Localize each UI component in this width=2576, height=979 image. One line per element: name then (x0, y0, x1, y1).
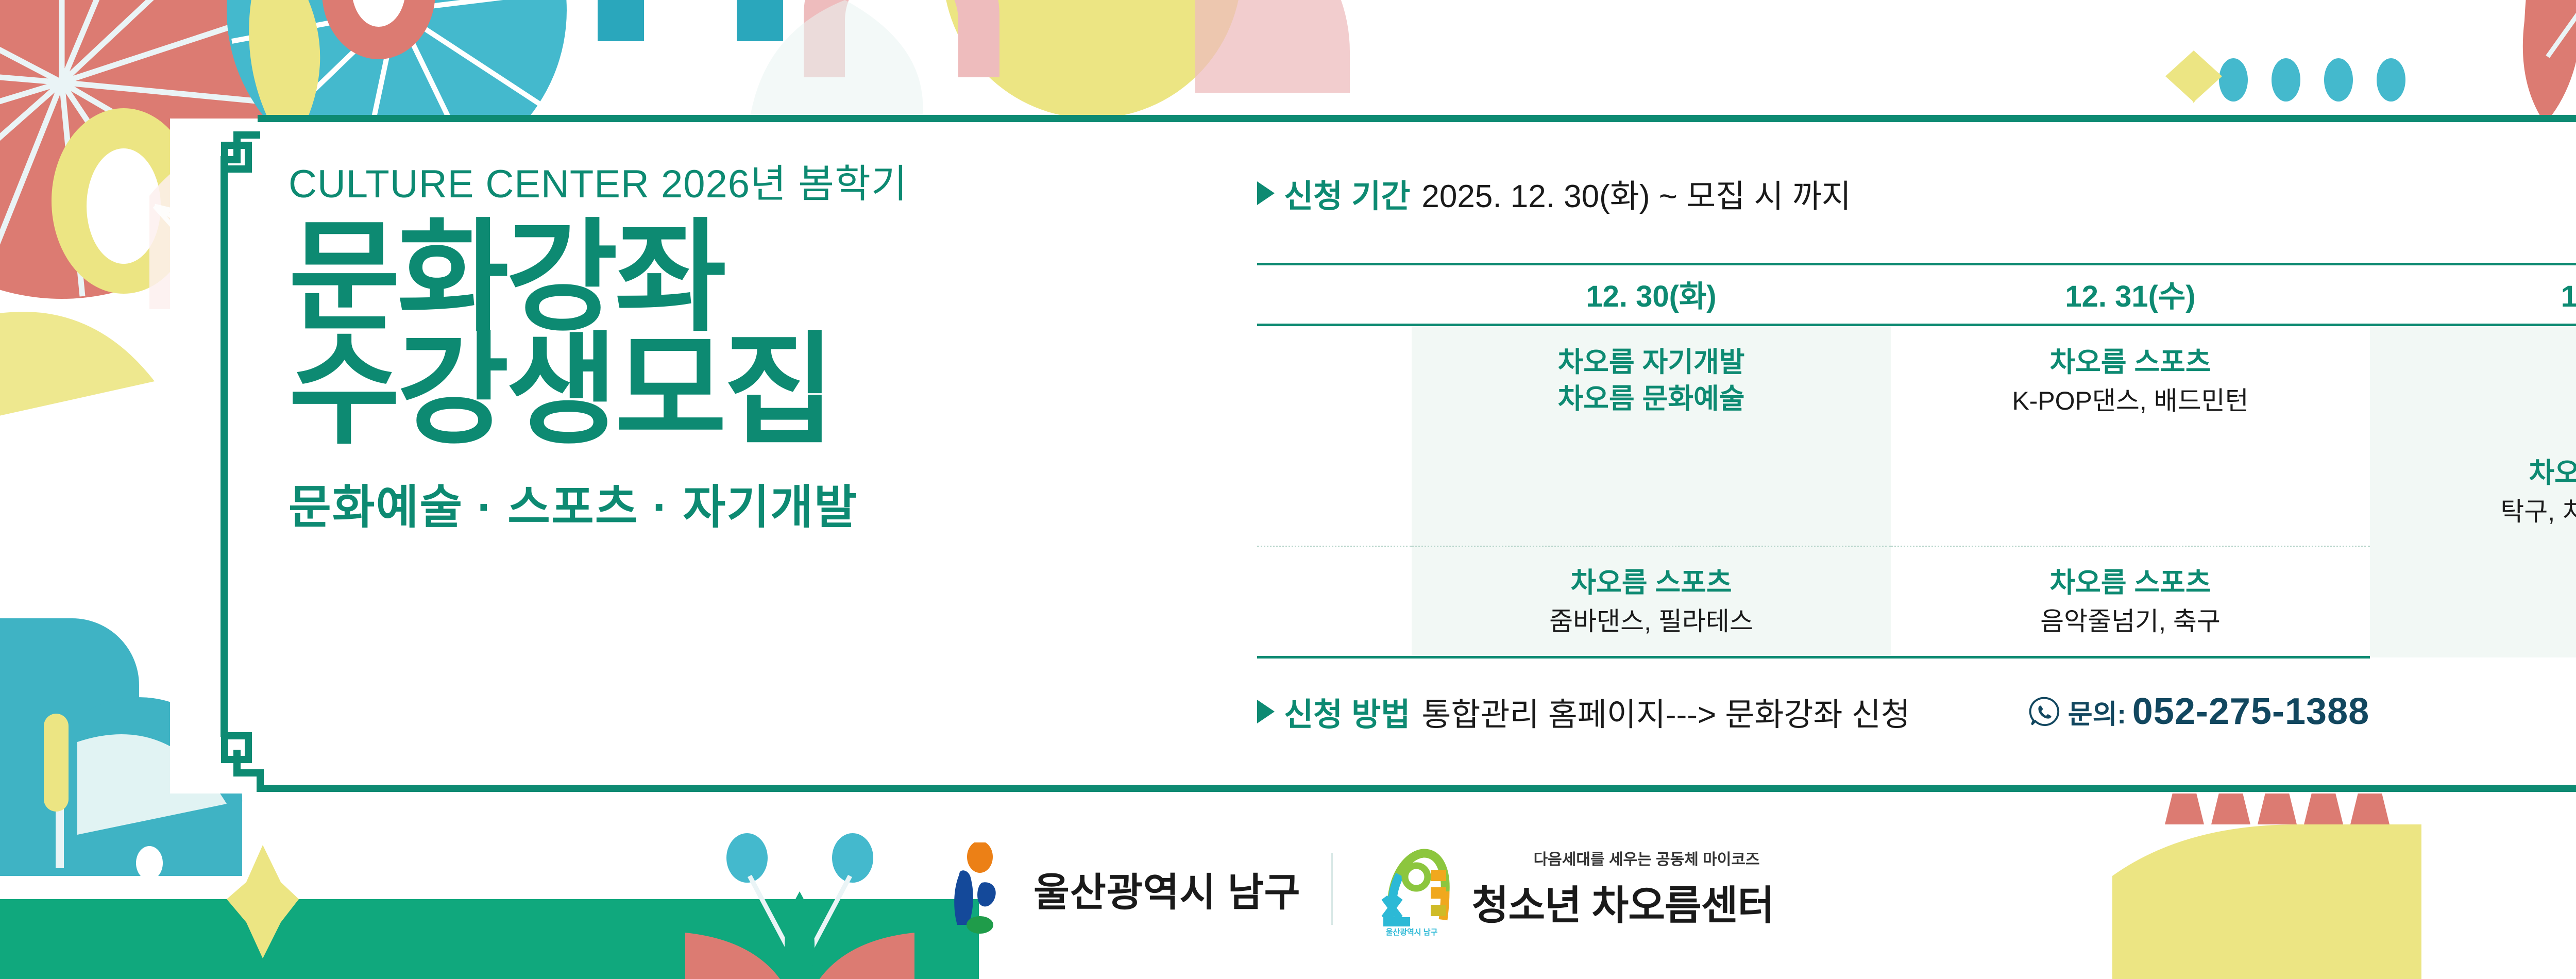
cell-afternoon-day1: 차오름 스포츠 줌바댄스, 필라테스 (1412, 547, 1891, 657)
divider-seg-day2 (1891, 436, 2370, 547)
apply-period-label: 신청 기간 (1284, 170, 1410, 216)
main-title-line1: 문화강좌 (289, 222, 1242, 334)
cell-title-2: 차오름 문화예술 (1412, 381, 1891, 417)
teal-arch (598, 0, 783, 41)
info-block: 신청 기간 2025. 12. 30(화) ~ 모집 시 까지 12. 30(화… (1257, 170, 2576, 735)
divider-seg-day1 (1412, 436, 1891, 547)
yellow-hill (2112, 824, 2421, 979)
main-title-line2: 수강생모집 (289, 334, 1242, 447)
contact-label: 문의: (2068, 693, 2126, 731)
contact-block: 문의: 052-275-1388 (2029, 690, 2369, 733)
white-dot-2 (136, 910, 163, 944)
yellow-wedge (0, 312, 155, 423)
apply-period-value: 2025. 12. 30(화) ~ 모집 시 까지 (1421, 170, 1851, 216)
chaoreum-center-logo: 다음세대를 세우는 공동체 마이코즈 청소년 차오름센터 (1472, 847, 1774, 931)
chaoreum-mark-icon: 울산광역시 남구 (1363, 840, 1461, 938)
center-tagline: 다음세대를 세우는 공동체 마이코즈 (1534, 847, 1760, 869)
triangle-bullet-icon-2 (1257, 700, 1275, 723)
apply-method-value: 통합관리 홈페이지---> 문화강좌 신청 (1421, 688, 1910, 735)
cell-title: 차오름 자기개발 (1412, 344, 1891, 381)
center-name-text: 청소년 차오름센터 (1472, 873, 1774, 931)
schedule-row-morning: 10:00 ~ 차오름 자기개발 차오름 문화예술 차오름 스포츠 K-POP댄… (1257, 325, 2576, 436)
subtitle-text: 문화예술 · 스포츠 · 자기개발 (289, 469, 1242, 536)
namgu-logo: 울산광역시 남구 (948, 842, 1301, 935)
apply-method-label: 신청 방법 (1284, 688, 1410, 735)
cell-subtitle: 탁구, 치어리딩, 농구 (2370, 495, 2576, 529)
cell-morning-day2: 차오름 스포츠 K-POP댄스, 배드민턴 (1891, 325, 2370, 436)
col-header-day3: 1. 2(금) (2370, 264, 2576, 325)
coral-arch-outline (804, 0, 999, 77)
cell-morning-day1: 차오름 자기개발 차오름 문화예술 (1412, 325, 1891, 436)
yellow-circle-top (943, 0, 1242, 119)
cell-merged-day3: 차오름 스포츠 탁구, 치어리딩, 농구 (2370, 325, 2576, 657)
time-label-morning: 10:00 ~ (1257, 325, 1412, 436)
apply-method-row: 신청 방법 통합관리 홈페이지---> 문화강좌 신청 문의: 052-275-… (1257, 688, 2576, 735)
yellow-star-left-icon (227, 845, 299, 958)
triangle-bullet-icon (1257, 181, 1275, 205)
pink-quarter (1195, 0, 1350, 93)
green-ground-band (0, 899, 979, 979)
yellow-star-icon (2177, 52, 2210, 103)
pill-stem (56, 719, 64, 868)
cell-title: 차오름 스포츠 (2370, 455, 2576, 492)
schedule-table: 12. 30(화) 12. 31(수) 1. 2(금) 10:00 ~ 차오름 … (1257, 263, 2576, 659)
time-label-afternoon: 13:00~ (1257, 547, 1412, 657)
cell-subtitle: 줌바댄스, 필라테스 (1412, 604, 1891, 638)
yellow-ring-hole (87, 148, 161, 264)
yellow-pill (44, 714, 69, 812)
col-header-day1: 12. 30(화) (1412, 264, 1891, 325)
title-block: CULTURE CENTER 2026년 봄학기 문화강좌 수강생모집 문화예술… (289, 165, 1242, 536)
cell-afternoon-day2: 차오름 스포츠 음악줄넘기, 축구 (1891, 547, 2370, 657)
apply-period-row: 신청 기간 2025. 12. 30(화) ~ 모집 시 까지 (1257, 170, 2576, 216)
footer-logos: 울산광역시 남구 울산광역시 남구 다음세대를 세우는 공동체 마이코즈 청소년… (948, 824, 1774, 953)
footer-divider (1331, 853, 1333, 925)
cell-title: 차오름 스포츠 (1891, 344, 2370, 381)
schedule-header-row: 12. 30(화) 12. 31(수) 1. 2(금) (1257, 264, 2576, 325)
banner-root: CULTURE CENTER 2026년 봄학기 문화강좌 수강생모집 문화예술… (0, 0, 2576, 979)
svg-text:울산광역시 남구: 울산광역시 남구 (1385, 927, 1437, 937)
cell-subtitle: K-POP댄스, 배드민턴 (1891, 384, 2370, 418)
teal-dot-row (2219, 58, 2405, 102)
white-dot-1 (136, 846, 163, 880)
eyebrow-text: CULTURE CENTER 2026년 봄학기 (289, 165, 1242, 204)
flower-icon (685, 833, 914, 979)
col-header-day2: 12. 31(수) (1891, 264, 2370, 325)
cell-title: 차오름 스포츠 (1891, 565, 2370, 601)
divider-seg-time (1257, 436, 1412, 547)
contact-phone: 052-275-1388 (2132, 690, 2369, 733)
namgu-person-logo-icon (948, 842, 1015, 935)
phone-bubble-icon (2029, 696, 2061, 728)
cell-title: 차오름 스포츠 (1412, 565, 1891, 601)
col-header-time (1257, 264, 1412, 325)
namgu-logo-text: 울산광역시 남구 (1033, 860, 1301, 917)
cell-subtitle: 음악줄넘기, 축구 (1891, 604, 2370, 638)
